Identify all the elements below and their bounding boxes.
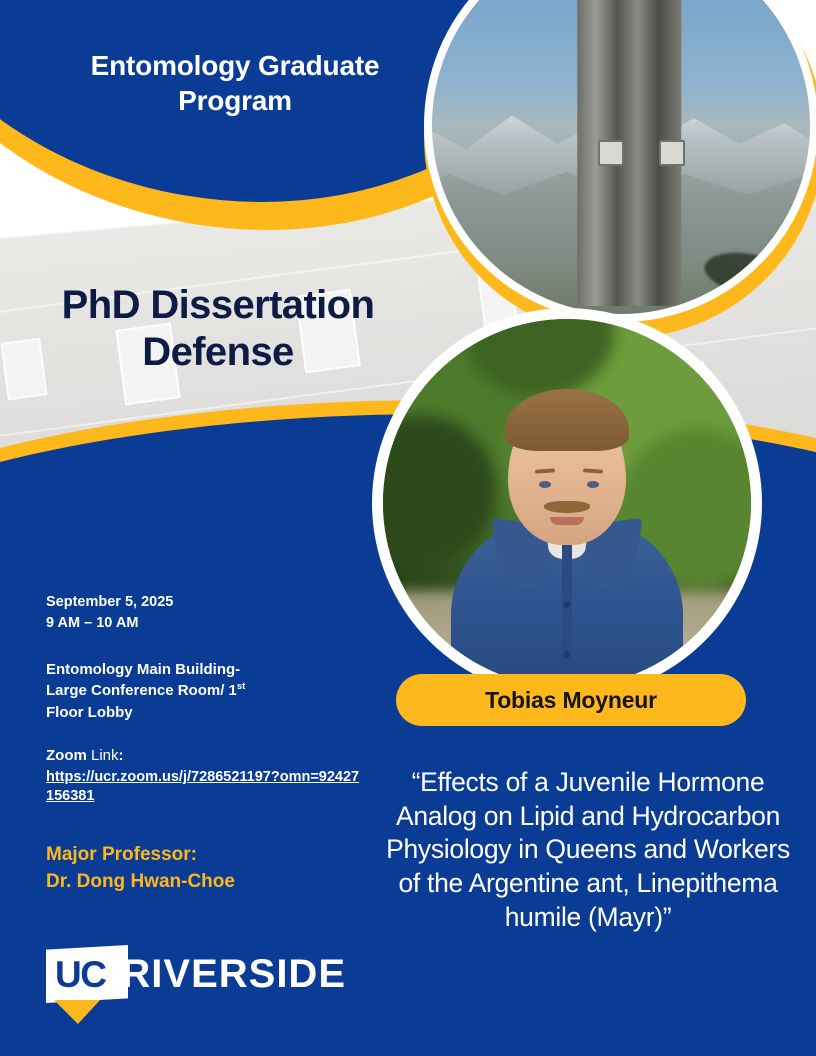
portrait-photo-inner	[383, 319, 751, 687]
ucr-logo: UC RIVERSIDE	[46, 945, 346, 1021]
uc-gold-flag-shape	[54, 1000, 100, 1024]
dissertation-title: “Effects of a Juvenile Hormone Analog on…	[372, 766, 804, 934]
event-location-line-2-text: Large Conference Room/ 1	[46, 682, 237, 699]
flyer-page: Entomology Graduate Program PhD Disserta…	[0, 0, 816, 1056]
tower-clock-right	[659, 140, 685, 166]
uc-monogram: UC	[55, 954, 125, 996]
event-location-line-1: Entomology Main Building-	[46, 659, 366, 680]
event-location: Entomology Main Building- Large Conferen…	[46, 659, 366, 723]
major-professor: Major Professor: Dr. Dong Hwan-Choe	[46, 842, 366, 894]
page-title: PhD Dissertation Defense	[8, 282, 428, 376]
event-location-line-3: Floor Lobby	[46, 702, 366, 723]
candidate-name-badge: Tobias Moyneur	[396, 674, 746, 726]
event-date: September 5, 2025	[46, 592, 366, 613]
zoom-meeting-link[interactable]: https://ucr.zoom.us/j/7286521197?omn=924…	[46, 768, 366, 806]
ordinal-suffix: st	[237, 681, 245, 692]
zoom-link-block: Zoom Link: https://ucr.zoom.us/j/7286521…	[46, 745, 366, 806]
zoom-word: Zoom	[46, 747, 87, 764]
page-title-line-1: PhD Dissertation	[8, 282, 428, 329]
tower-clock-left	[598, 140, 624, 166]
major-professor-name: Dr. Dong Hwan-Choe	[46, 869, 366, 895]
portrait-shirt-placket	[562, 545, 572, 687]
uc-mark-icon: UC	[46, 945, 111, 1021]
link-word: Link	[87, 747, 119, 764]
major-professor-label: Major Professor:	[46, 842, 366, 868]
event-details: September 5, 2025 9 AM – 10 AM Entomolog…	[46, 592, 366, 895]
zoom-label-colon: :	[119, 747, 124, 764]
candidate-portrait	[372, 308, 762, 698]
event-datetime: September 5, 2025 9 AM – 10 AM	[46, 592, 366, 633]
ucr-wordmark: RIVERSIDE	[121, 952, 346, 996]
event-time: 9 AM – 10 AM	[46, 613, 366, 634]
page-title-line-2: Defense	[8, 329, 428, 376]
event-location-line-2: Large Conference Room/ 1st	[46, 680, 366, 701]
program-title: Entomology Graduate Program	[40, 48, 430, 118]
portrait-mouth	[550, 517, 584, 525]
zoom-link-label: Zoom Link:	[46, 745, 366, 766]
bell-tower-photo	[424, 0, 816, 338]
portrait-moustache	[544, 501, 590, 513]
